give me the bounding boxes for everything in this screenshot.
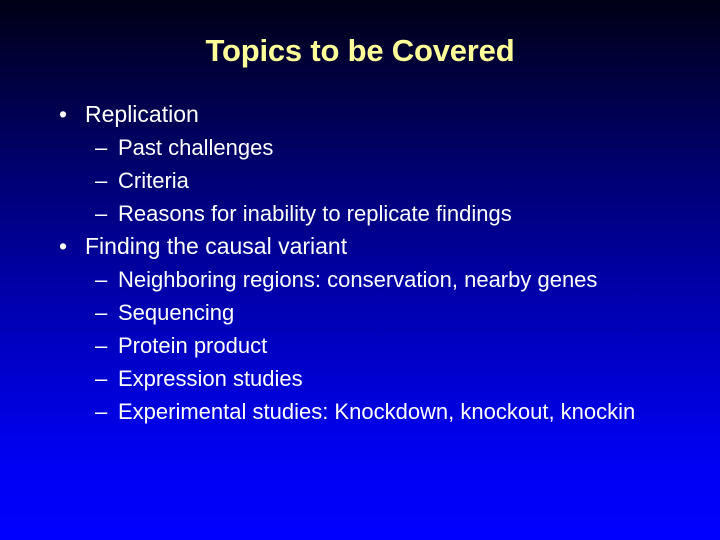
- bullet-level2-experimental-studies: – Experimental studies: Knockdown, knock…: [50, 395, 670, 428]
- slide-body-outline: • Replication – Past challenges – Criter…: [50, 98, 670, 428]
- bullet-level2-criteria: – Criteria: [50, 164, 670, 197]
- bullet-dash-icon: –: [95, 164, 115, 197]
- bullet-dash-icon: –: [95, 131, 115, 164]
- bullet-level2-neighboring-regions: – Neighboring regions: conservation, nea…: [50, 263, 670, 296]
- bullet-level2-past-challenges: – Past challenges: [50, 131, 670, 164]
- bullet-level1-replication: • Replication: [50, 98, 670, 131]
- bullet-level2-label: Expression studies: [118, 362, 670, 395]
- bullet-level2-label: Sequencing: [118, 296, 670, 329]
- bullet-level2-reasons-for-inability: – Reasons for inability to replicate fin…: [50, 197, 670, 230]
- bullet-dash-icon: –: [95, 395, 115, 428]
- bullet-level1-label: Replication: [85, 101, 199, 127]
- bullet-level2-sequencing: – Sequencing: [50, 296, 670, 329]
- bullet-level2-protein-product: – Protein product: [50, 329, 670, 362]
- bullet-level1-label: Finding the causal variant: [85, 233, 347, 259]
- bullet-level2-label: Protein product: [118, 329, 670, 362]
- bullet-level2-label: Neighboring regions: conservation, nearb…: [118, 263, 670, 296]
- bullet-level2-label: Experimental studies: Knockdown, knockou…: [118, 395, 670, 428]
- slide-title: Topics to be Covered: [0, 34, 720, 68]
- outline-group-finding-causal-variant: • Finding the causal variant – Neighbori…: [50, 230, 670, 428]
- bullet-level2-label: Past challenges: [118, 131, 670, 164]
- bullet-level1-finding-the-causal-variant: • Finding the causal variant: [50, 230, 670, 263]
- bullet-level2-expression-studies: – Expression studies: [50, 362, 670, 395]
- bullet-dash-icon: –: [95, 296, 115, 329]
- bullet-dash-icon: –: [95, 329, 115, 362]
- bullet-dash-icon: –: [95, 362, 115, 395]
- bullet-level2-label: Reasons for inability to replicate findi…: [118, 197, 670, 230]
- bullet-dot-icon: •: [59, 98, 73, 131]
- bullet-level2-label: Criteria: [118, 164, 670, 197]
- bullet-dash-icon: –: [95, 197, 115, 230]
- presentation-slide: Topics to be Covered • Replication – Pas…: [0, 0, 720, 540]
- outline-group-replication: • Replication – Past challenges – Criter…: [50, 98, 670, 230]
- bullet-dash-icon: –: [95, 263, 115, 296]
- bullet-dot-icon: •: [59, 230, 73, 263]
